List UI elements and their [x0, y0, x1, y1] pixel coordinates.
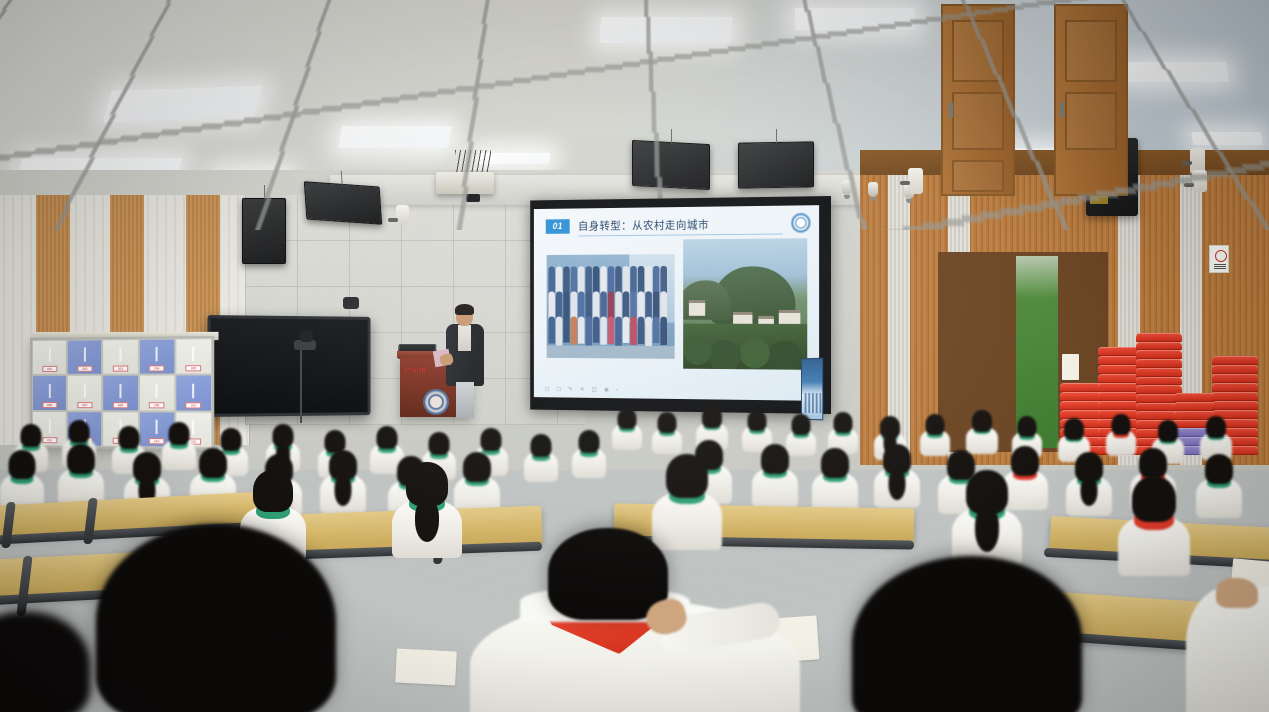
ceiling-panel-light [1191, 132, 1263, 145]
notebook-on-desk [395, 648, 457, 685]
locker-door[interactable]: 208 [103, 375, 139, 411]
locker-tag: 209 [149, 402, 165, 408]
presenter-trousers [456, 382, 474, 418]
locker-tag: 204 [149, 366, 165, 372]
locker-tag: 208 [113, 402, 128, 408]
student [58, 444, 104, 508]
hanging-speaker [242, 198, 286, 264]
projector-lens [466, 194, 480, 202]
foreground-head-far-left [0, 612, 90, 712]
student [1066, 452, 1112, 516]
door-left-panel[interactable] [941, 4, 1015, 196]
vegetation [683, 324, 807, 370]
hanging-speaker [304, 181, 382, 225]
student [524, 434, 558, 482]
track-spotlight [842, 180, 852, 195]
locker-door[interactable]: 204 [139, 338, 176, 374]
village-house [779, 310, 801, 325]
ceiling-projector [436, 172, 494, 194]
foreground-head-right [852, 556, 1082, 712]
presenter [444, 306, 486, 418]
photo-foreground [547, 345, 675, 358]
student [652, 412, 682, 454]
locker-door[interactable]: 206 [32, 375, 67, 411]
locker-door[interactable]: 205 [175, 338, 212, 375]
school-emblem-icon [791, 212, 812, 233]
locker-door[interactable]: 207 [67, 375, 103, 411]
ceiling-panel-light [1119, 62, 1230, 82]
slide-section-badge: 01 [546, 219, 570, 234]
student [612, 408, 642, 450]
locker-tag: 201 [42, 366, 57, 372]
student [874, 444, 920, 508]
locker-tag: 206 [42, 402, 57, 408]
student [1196, 454, 1242, 518]
student [320, 450, 366, 514]
podium-text: 广州市 [404, 366, 427, 376]
ceiling-panel-light [338, 126, 452, 148]
group-class-photo [547, 254, 675, 359]
locker-door[interactable]: 209 [139, 375, 176, 411]
student [752, 444, 798, 508]
presenter-shirt [458, 325, 471, 351]
locker-tag: 203 [113, 366, 128, 372]
locker-tag: 205 [186, 365, 202, 371]
door-right-panel[interactable] [1054, 4, 1128, 196]
presentation-slide: 01 自身转型：从农村走向城市 [534, 205, 819, 401]
rural-village-photo [683, 238, 807, 370]
door-panel-mid [1065, 92, 1117, 150]
door-panel-lower [952, 160, 1004, 192]
side-display-banner [801, 358, 823, 421]
slide-title: 自身转型：从农村走向城市 [578, 216, 709, 233]
village-house [689, 300, 705, 316]
locker-door[interactable]: 210 [175, 375, 212, 412]
slide-footer-icons: ◻ ◻ ✎ ✕ ◫ ◉ ‹ [545, 386, 621, 394]
student [392, 462, 462, 558]
door-panel-upper [952, 20, 1004, 82]
student [966, 410, 998, 454]
student [572, 430, 606, 478]
locker-tag: 207 [77, 402, 92, 408]
locker-door[interactable]: 201 [32, 340, 67, 376]
student-hand [1216, 578, 1258, 608]
projection-screen: 01 自身转型：从农村走向城市 [530, 196, 831, 414]
ceiling-panel-light [103, 85, 264, 122]
no-smoking-sign [1209, 245, 1229, 273]
student-with-scarf [1118, 476, 1190, 576]
locker-door[interactable]: 203 [103, 339, 139, 375]
wall-lamp [396, 205, 409, 225]
ceiling-camera [343, 297, 359, 309]
hanging-speaker [632, 140, 710, 190]
door-handle[interactable] [1060, 102, 1064, 118]
hanging-speaker [738, 141, 814, 188]
wall-lamp [1192, 170, 1207, 192]
student [652, 454, 722, 550]
locker-door[interactable]: 202 [67, 339, 103, 375]
auditorium-photo: 01 自身转型：从农村走向城市 [0, 0, 1269, 712]
ceiling-panel-light [795, 8, 916, 30]
door-handle[interactable] [949, 102, 953, 118]
slide-title-rule [578, 233, 783, 236]
locker-tag: 210 [186, 402, 202, 408]
foreground-head-left [96, 524, 336, 712]
student [812, 448, 858, 512]
camera-tripod [300, 345, 302, 423]
photo-person-row [549, 317, 673, 347]
flat-panel-tv [207, 315, 370, 417]
door-panel-mid [952, 92, 1004, 150]
door-panel-upper [1065, 20, 1117, 82]
camera-body [300, 330, 313, 342]
slide-header: 01 自身转型：从农村走向城市 [534, 213, 819, 238]
student [952, 470, 1022, 566]
ceiling-panel-light [599, 17, 733, 43]
track-spotlight [868, 182, 878, 197]
presenter-hair [455, 304, 474, 315]
locker-tag: 202 [77, 366, 92, 372]
wall-lamp [908, 168, 923, 194]
